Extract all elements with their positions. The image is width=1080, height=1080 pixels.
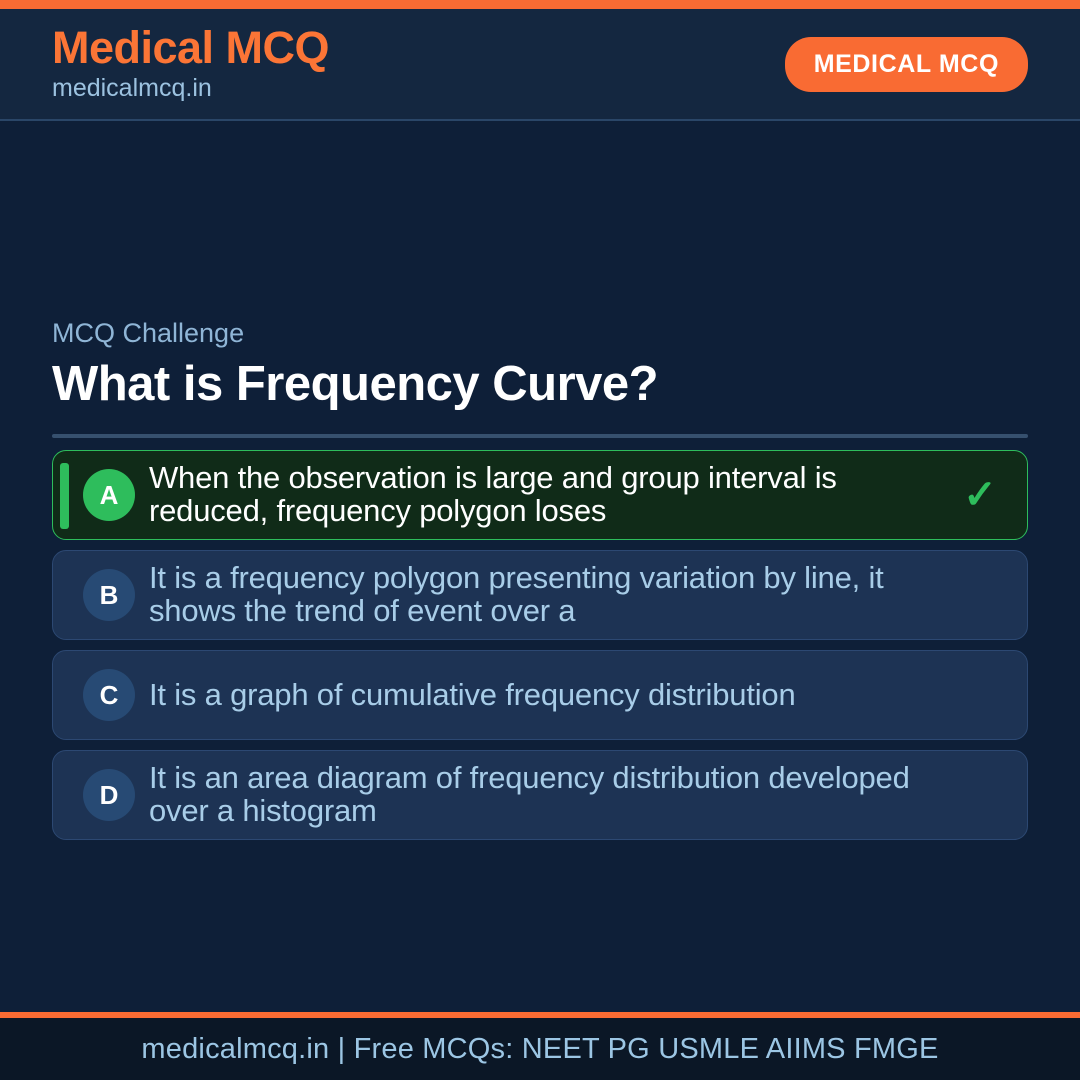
top-accent-bar [0, 0, 1080, 9]
options-list: A When the observation is large and grou… [52, 450, 1028, 840]
option-text-b: It is a frequency polygon presenting var… [149, 562, 959, 627]
check-icon: ✓ [959, 472, 1001, 518]
option-letter-badge-d: D [83, 769, 135, 821]
brand-subtitle: medicalmcq.in [52, 73, 329, 104]
option-letter-badge-c: C [83, 669, 135, 721]
option-row-d[interactable]: D It is an area diagram of frequency dis… [52, 750, 1028, 840]
option-text-a: When the observation is large and group … [149, 462, 959, 527]
brand-block: Medical MCQ medicalmcq.in [52, 24, 329, 105]
page-footer: medicalmcq.in | Free MCQs: NEET PG USMLE… [0, 1012, 1080, 1080]
option-letter-badge-b: B [83, 569, 135, 621]
title-divider [52, 434, 1028, 438]
option-letter-badge-a: A [83, 469, 135, 521]
option-row-b[interactable]: B It is a frequency polygon presenting v… [52, 550, 1028, 640]
question-block: MCQ Challenge What is Frequency Curve? [52, 317, 1028, 438]
header-badge: MEDICAL MCQ [785, 37, 1028, 92]
footer-text: medicalmcq.in | Free MCQs: NEET PG USMLE… [141, 1033, 938, 1066]
eyebrow-label: MCQ Challenge [52, 317, 1028, 349]
option-text-d: It is an area diagram of frequency distr… [149, 762, 959, 827]
page-header: Medical MCQ medicalmcq.in MEDICAL MCQ [0, 9, 1080, 121]
option-text-c: It is a graph of cumulative frequency di… [149, 679, 959, 712]
option-row-c[interactable]: C It is a graph of cumulative frequency … [52, 650, 1028, 740]
brand-title: Medical MCQ [52, 24, 329, 71]
option-row-a[interactable]: A When the observation is large and grou… [52, 450, 1028, 540]
correct-accent-bar [60, 463, 69, 529]
main-content: MCQ Challenge What is Frequency Curve? A… [0, 121, 1080, 1012]
question-title: What is Frequency Curve? [52, 357, 1028, 412]
